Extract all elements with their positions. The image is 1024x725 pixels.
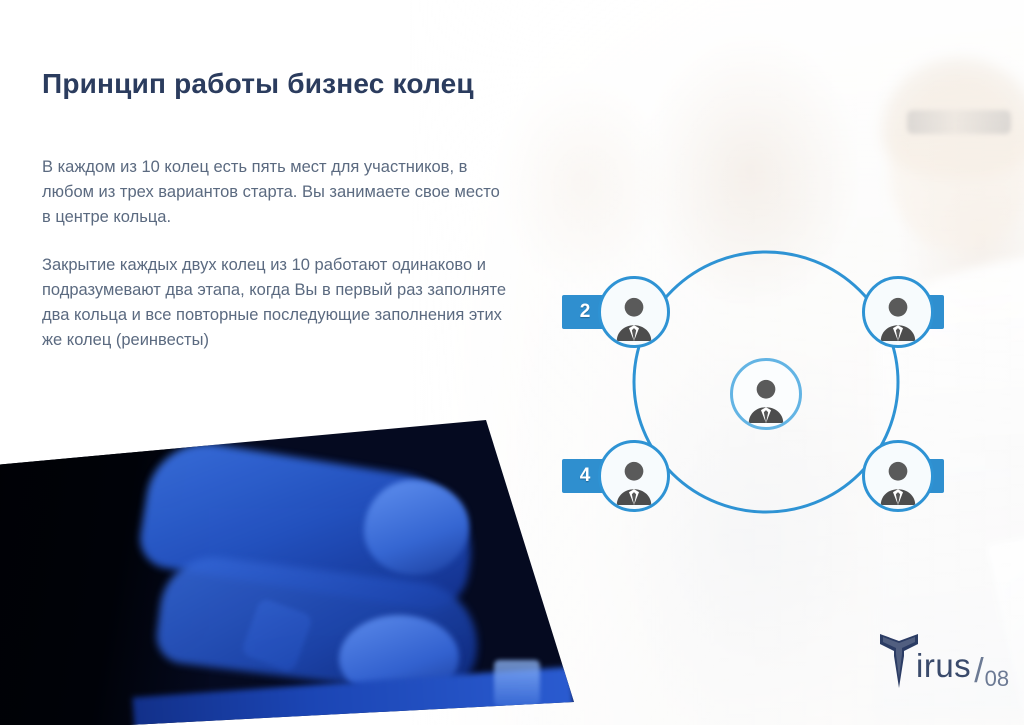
logo-separator: / — [974, 654, 983, 688]
logo-wordmark: irus — [916, 649, 971, 682]
ring-node-4[interactable] — [598, 440, 670, 512]
user-avatar-icon — [875, 295, 921, 341]
ring-node-center[interactable] — [730, 358, 802, 430]
brand-logo: irus / 08 — [878, 630, 1009, 688]
ring-node-2[interactable] — [598, 276, 670, 348]
ring-node-5[interactable] — [862, 440, 934, 512]
body-paragraph-2: Закрытие каждых двух колец из 10 работаю… — [42, 253, 512, 353]
user-avatar-icon — [611, 459, 657, 505]
slide-number: 08 — [985, 668, 1009, 690]
body-paragraph-1: В каждом из 10 колец есть пять мест для … — [42, 155, 512, 230]
user-avatar-icon — [743, 377, 789, 423]
virus-chevron-icon — [878, 630, 920, 688]
presentation-slide: Принцип работы бизнес колец В каждом из … — [0, 0, 1024, 725]
user-avatar-icon — [875, 459, 921, 505]
page-title: Принцип работы бизнес колец — [42, 68, 474, 100]
ring-node-3[interactable] — [862, 276, 934, 348]
user-avatar-icon — [611, 295, 657, 341]
business-ring-diagram: 2 3 4 5 — [556, 232, 976, 532]
blue-tinted-photo-panel — [0, 420, 574, 725]
